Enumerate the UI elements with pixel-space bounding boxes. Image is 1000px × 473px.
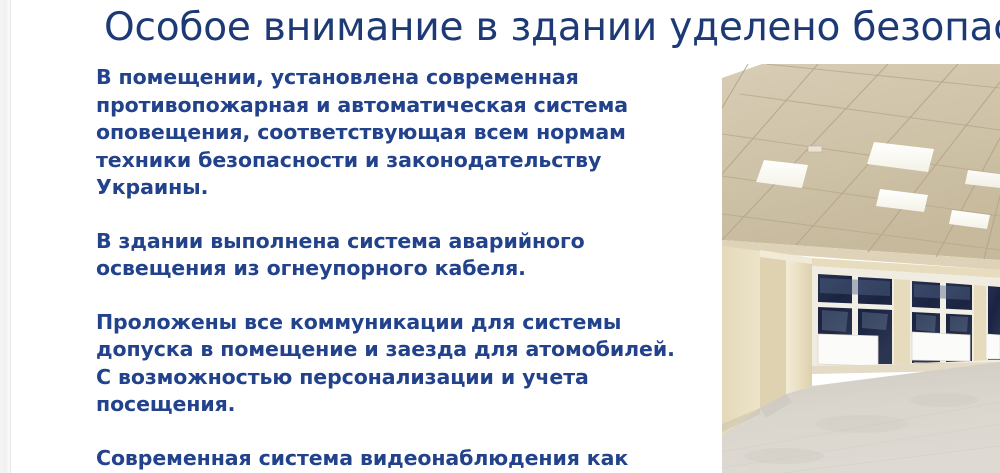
- paragraph-video-surveillance: Современная система видеонаблюдения как …: [96, 445, 706, 473]
- office-interior-illustration: [722, 64, 1000, 473]
- page-edge-divider: [10, 0, 11, 473]
- presentation-slide: Особое внимание в здании уделено безопас…: [0, 0, 1000, 473]
- body-text-column: В помещении, установлена современная про…: [96, 64, 706, 473]
- paragraph-emergency-lighting: В здании выполнена система аварийного ос…: [96, 228, 706, 283]
- office-interior-photo: [722, 64, 1000, 473]
- page-title: Особое внимание в здании уделено безопас…: [104, 2, 1000, 54]
- page-edge-strip: [0, 0, 10, 473]
- paragraph-access-control: Проложены все коммуникации для системы д…: [96, 309, 706, 419]
- paragraph-fire-safety: В помещении, установлена современная про…: [96, 64, 706, 202]
